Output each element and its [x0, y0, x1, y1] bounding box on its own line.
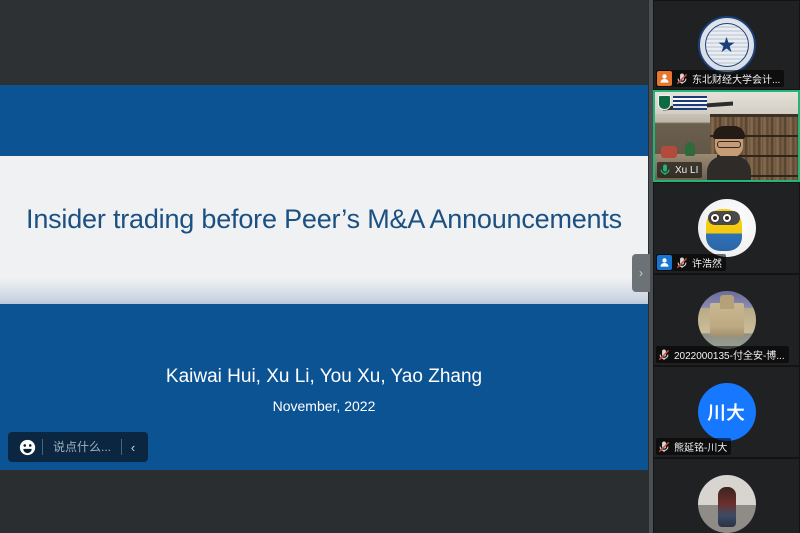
- panel-collapse-handle[interactable]: ›: [632, 254, 650, 292]
- mic-muted-icon: [675, 256, 689, 270]
- slide-top-dark-band: [0, 0, 648, 85]
- slide-gradient-divider: [0, 278, 648, 304]
- plant: [685, 142, 695, 156]
- participant-avatar: [654, 459, 799, 533]
- mic-active-icon: [658, 163, 672, 177]
- slide-title: Insider trading before Peer’s M&A Announ…: [0, 204, 648, 235]
- participant-nameplate: 东北财经大学会计...: [656, 70, 784, 87]
- mic-muted-icon: [657, 440, 671, 454]
- initials-avatar: 川大: [698, 383, 756, 441]
- mic-muted-icon: [675, 72, 689, 86]
- participant-name: Xu LI: [675, 165, 698, 176]
- participant-name: 许浩然: [692, 255, 722, 270]
- participant-tile[interactable]: 川大 熊延铭-川大: [653, 366, 800, 458]
- shared-screen-stage[interactable]: Insider trading before Peer’s M&A Announ…: [0, 0, 648, 470]
- university-emblem-avatar: ★: [698, 16, 756, 74]
- slide-top-blue-band: [0, 85, 648, 156]
- person-on-camera: [707, 128, 751, 180]
- building-photo-avatar: [698, 291, 756, 349]
- chat-composer-bar[interactable]: 说点什么... ‹: [8, 432, 148, 462]
- smiley-icon[interactable]: [12, 432, 42, 462]
- chat-input[interactable]: 说点什么...: [43, 432, 121, 462]
- minion-avatar: [698, 199, 756, 257]
- chevron-right-icon: ›: [639, 266, 643, 280]
- participant-tile[interactable]: Xu LI: [653, 90, 800, 182]
- participant-filmstrip[interactable]: ★ 东北财经大学会计...: [653, 0, 800, 533]
- participant-tile[interactable]: 许浩然: [653, 182, 800, 274]
- presentation-slide: Insider trading before Peer’s M&A Announ…: [0, 0, 648, 470]
- slide-date: November, 2022: [0, 398, 648, 414]
- mic-muted-icon: [657, 348, 671, 362]
- participant-nameplate: 2022000135-付全安-博...: [656, 346, 789, 363]
- university-watermark-logo: [658, 95, 707, 110]
- participant-name: 2022000135-付全安-博...: [674, 347, 785, 362]
- participant-tile[interactable]: [653, 458, 800, 533]
- person-photo-avatar: [698, 475, 756, 533]
- participant-tile[interactable]: ★ 东北财经大学会计...: [653, 0, 800, 90]
- participant-nameplate: 许浩然: [656, 254, 726, 271]
- participant-name: 熊延铭-川大: [674, 439, 727, 454]
- participant-nameplate: Xu LI: [657, 162, 702, 178]
- zoom-meeting-window: Insider trading before Peer’s M&A Announ…: [0, 0, 800, 533]
- user-badge-icon: [657, 71, 672, 86]
- chevron-left-icon[interactable]: ‹: [122, 432, 144, 462]
- emblem-inner: ★: [705, 23, 749, 67]
- participant-tile[interactable]: 2022000135-付全安-博...: [653, 274, 800, 366]
- participant-name: 东北财经大学会计...: [692, 71, 780, 86]
- participant-nameplate: 熊延铭-川大: [656, 438, 731, 455]
- user-badge-icon: [657, 255, 672, 270]
- slide-authors: Kaiwai Hui, Xu Li, You Xu, Yao Zhang: [0, 366, 648, 388]
- chair: [661, 146, 677, 158]
